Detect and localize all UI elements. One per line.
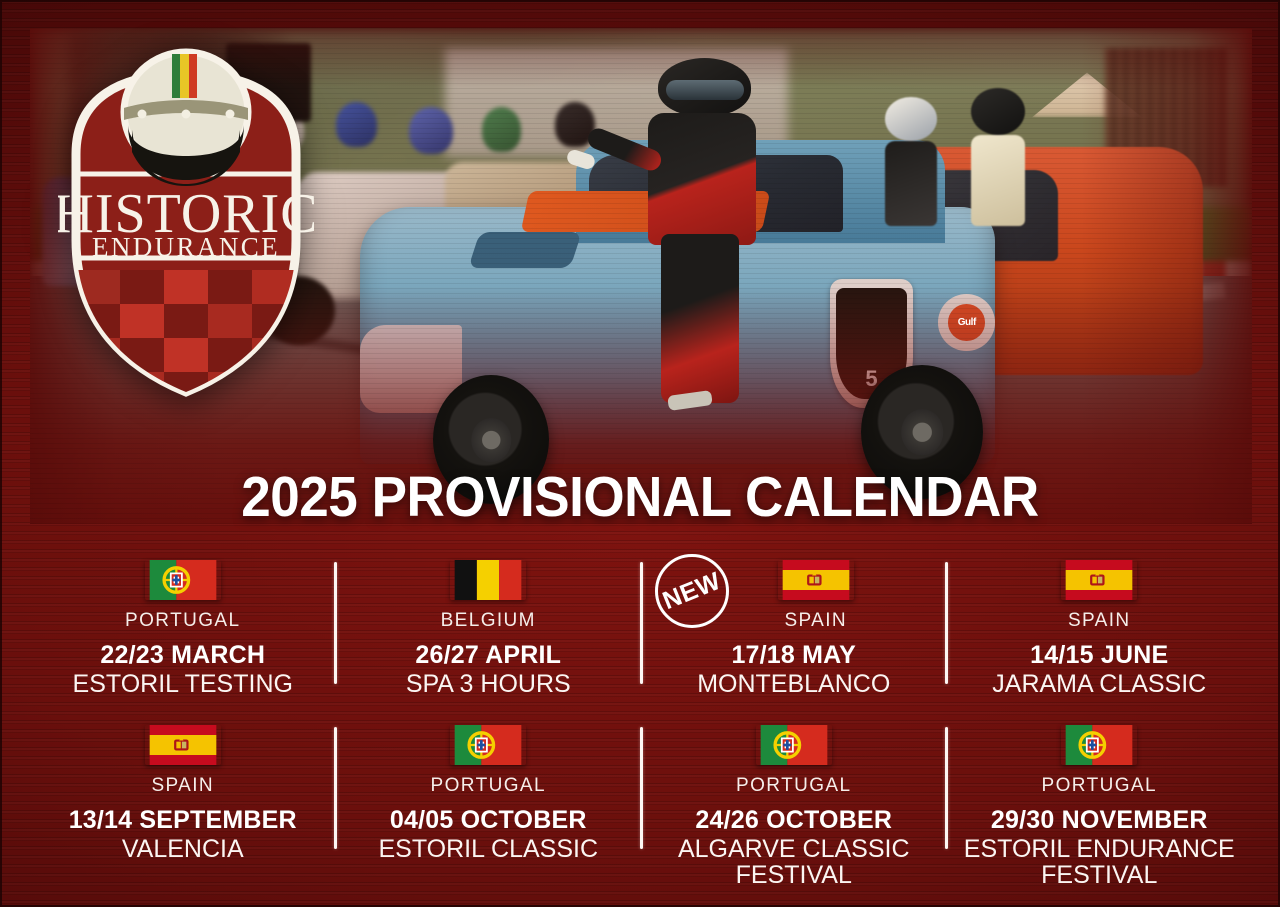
photo-driver-torso [648,113,756,245]
event-name: ESTORIL CLASSIC [378,836,598,862]
event-country: PORTUGAL [125,610,240,632]
calendar-grid: PORTUGAL 22/23 MARCH ESTORIL TESTING BEL… [30,548,1252,878]
event-dates: 13/14 SEPTEMBER [69,806,297,835]
portugal-flag-icon [145,560,221,600]
photo-marshal-helmet [885,97,936,141]
photo-driver-boot [668,390,713,411]
event-name: ESTORIL ENDURANCE FESTIVAL [954,836,1244,888]
calendar-row: SPAIN 13/14 SEPTEMBER VALENCIA PORTUGAL … [30,713,1252,878]
belgium-flag-icon [450,560,526,600]
photo-driver-legs [661,234,739,403]
logo-checker-pattern [76,270,296,406]
event-name: ALGARVE CLASSIC FESTIVAL [649,836,939,888]
event-name: SPA 3 HOURS [406,671,571,697]
event-country: SPAIN [784,610,847,632]
calendar-event-algarve-classic-festival[interactable]: PORTUGAL 24/26 OCTOBER ALGARVE CLASSIC F… [641,713,947,888]
portugal-flag-icon [450,725,526,765]
photo-marshal [971,88,1025,227]
event-dates: 14/15 JUNE [1030,641,1168,670]
event-name: MONTEBLANCO [697,671,890,697]
event-country: BELGIUM [441,610,536,632]
event-country: PORTUGAL [431,775,546,797]
spain-flag-icon [1061,560,1137,600]
event-country: SPAIN [1068,610,1131,632]
calendar-event-estoril-endurance-festival[interactable]: PORTUGAL 29/30 NOVEMBER ESTORIL ENDURANC… [947,713,1253,888]
event-dates: 24/26 OCTOBER [695,806,892,835]
spain-flag-icon [778,560,854,600]
logo-helmet-icon [124,52,248,186]
photo-wheel-hub [472,418,511,462]
event-dates: 17/18 MAY [731,641,856,670]
photo-marshal-suit [971,135,1025,227]
page-title: 2025 PROVISIONAL CALENDAR [45,464,1235,530]
event-dates: 29/30 NOVEMBER [991,806,1208,835]
event-dates: 26/27 APRIL [415,641,561,670]
new-badge-label: NEW [659,566,725,615]
portugal-flag-icon [756,725,832,765]
calendar-event-jarama-classic[interactable]: SPAIN 14/15 JUNE JARAMA CLASSIC [947,548,1253,713]
calendar-event-monteblanco[interactable]: NEW SPAIN 17/18 MAY MONTEBLANCO [641,548,947,713]
calendar-event-spa-3-hours[interactable]: BELGIUM 26/27 APRIL SPA 3 HOURS [336,548,642,713]
historic-endurance-logo: HISTORIC ENDURANCE [58,34,314,406]
event-name: JARAMA CLASSIC [992,671,1206,697]
calendar-row: PORTUGAL 22/23 MARCH ESTORIL TESTING BEL… [30,548,1252,713]
event-dates: 04/05 OCTOBER [390,806,587,835]
calendar-poster: 5 Gulf [0,0,1280,907]
calendar-event-valencia[interactable]: SPAIN 13/14 SEPTEMBER VALENCIA [30,713,336,888]
calendar-event-estoril-classic[interactable]: PORTUGAL 04/05 OCTOBER ESTORIL CLASSIC [336,713,642,888]
photo-driver-helmet [658,58,751,117]
event-name: VALENCIA [122,836,244,862]
event-dates: 22/23 MARCH [100,641,265,670]
spain-flag-icon [145,725,221,765]
event-country: SPAIN [151,775,214,797]
photo-driver-visor [666,80,744,100]
photo-wheel-hub [901,409,943,455]
logo-text-endurance: ENDURANCE [92,232,280,262]
new-badge: NEW [655,554,729,628]
photo-gulf-text: Gulf [958,317,976,328]
photo-marshal-helmet [971,88,1025,135]
calendar-event-estoril-testing[interactable]: PORTUGAL 22/23 MARCH ESTORIL TESTING [30,548,336,713]
event-name: ESTORIL TESTING [73,671,293,697]
photo-driver [641,58,763,425]
portugal-flag-icon [1061,725,1137,765]
event-country: PORTUGAL [736,775,851,797]
event-country: PORTUGAL [1042,775,1157,797]
photo-marshal-suit [885,141,936,226]
photo-marshal [885,97,936,226]
